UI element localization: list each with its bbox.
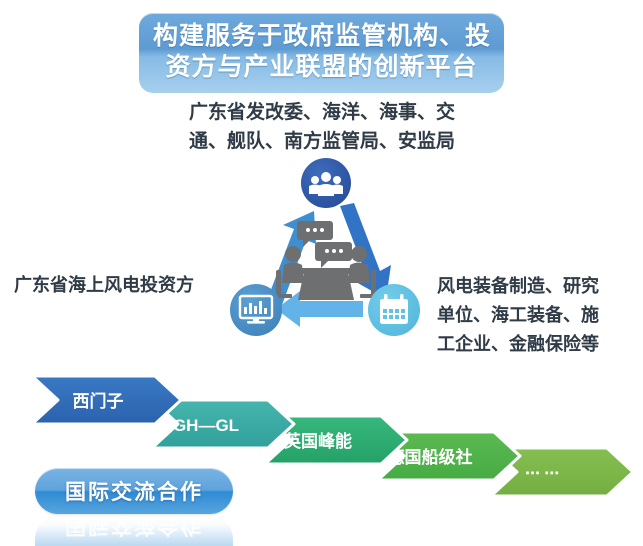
right-label-line-1: 风电装备制造、研究 [437, 272, 637, 301]
title-line-2: 资方与产业联盟的创新平台 [153, 52, 490, 83]
chevron-label-5: ⋯ ⋯ [525, 465, 559, 482]
label-industry-right: 风电装备制造、研究 单位、海工装备、施 工企业、金融保险等 [437, 272, 637, 359]
investor-node[interactable] [230, 284, 282, 336]
chevron-label-3: 英国峰能 [284, 431, 352, 451]
title-banner: 构建服务于政府监管机构、投 资方与产业联盟的创新平台 [139, 13, 504, 93]
subtitle-line-1: 广东省发改委、海洋、海事、交 [152, 98, 492, 127]
chevron-label-4: 德国船级社 [388, 447, 473, 467]
intl-cooperation-pill[interactable]: 国际交流合作 [35, 468, 233, 514]
subtitle-government-agencies: 广东省发改委、海洋、海事、交 通、舰队、南方监管局、安监局 [152, 98, 492, 156]
label-investor-left: 广东省海上风电投资方 [14, 272, 229, 299]
right-label-line-2: 单位、海工装备、施 [437, 301, 637, 330]
industry-node[interactable] [368, 284, 420, 336]
chevron-item-1[interactable]: 西门子 [32, 376, 181, 424]
cycle-diagram [228, 158, 423, 348]
right-label-line-3: 工企业、金融保险等 [437, 330, 637, 359]
government-node[interactable] [301, 158, 351, 208]
intl-cooperation-pill-reflection: 国际交流合作 [35, 516, 233, 546]
intl-cooperation-reflection-label: 国际交流合作 [65, 516, 203, 546]
chevron-label-2: GH—GL [173, 416, 239, 435]
chevron-label-1: 西门子 [73, 391, 124, 411]
title-line-1: 构建服务于政府监管机构、投 [153, 21, 490, 52]
intl-cooperation-label: 国际交流合作 [65, 476, 203, 506]
subtitle-line-2: 通、舰队、南方监管局、安监局 [152, 127, 492, 156]
